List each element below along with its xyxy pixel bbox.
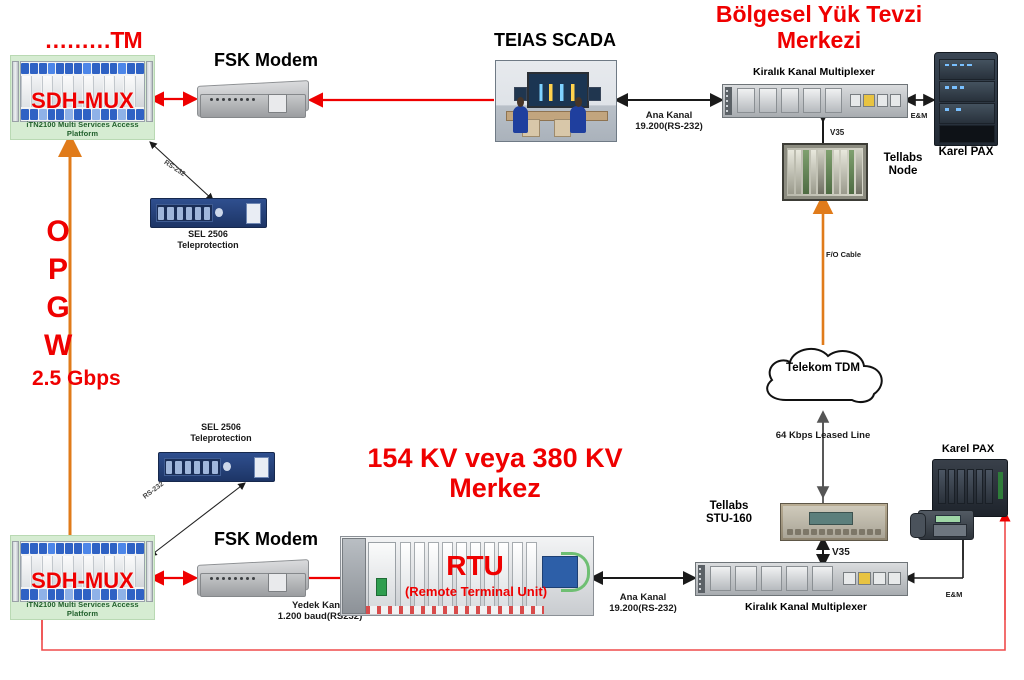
label-karel-pax-top: Karel PAX: [925, 146, 1007, 159]
label-opgw-w: W: [44, 329, 72, 363]
device-sel-2506-bottom[interactable]: [158, 452, 275, 482]
karel-shelf-1: [939, 59, 994, 80]
rtu-cpu-led: [376, 578, 387, 596]
device-teias-scada[interactable]: [495, 60, 617, 142]
label-rs232-top: RS-232: [152, 153, 197, 186]
rtu-terminal-strip: [366, 606, 544, 614]
title-substation: 154 KV veya 380 KV Merkez: [330, 443, 660, 503]
karel-bottom-slots: [937, 469, 993, 504]
sel-pushbutton-panel-bottom: [164, 458, 221, 476]
label-rs232-bottom: RS-232: [132, 473, 175, 509]
device-karel-pax-top[interactable]: [934, 52, 998, 146]
mux-tag-label: SDH-MUX: [11, 88, 154, 114]
label-tm: ………TM: [28, 28, 158, 54]
device-kiralik-kanal-multiplexer-bottom[interactable]: [695, 562, 908, 596]
kkm-rack-ears: [725, 87, 732, 115]
cloud-telekom-tdm[interactable]: [748, 340, 898, 416]
rtu-left-bracket: [342, 538, 366, 614]
label-sel-2506-bottom: SEL 2506 Teleprotection: [165, 422, 277, 444]
sel-knob: [215, 208, 223, 217]
stu-button-row: [787, 529, 880, 535]
network-diagram-canvas: Bölgesel Yük Tevzi Merkezi TEIAS SCADA 1…: [0, 0, 1024, 680]
label-opgw-p: P: [44, 253, 72, 287]
phone-handset: [910, 513, 926, 538]
scada-pedestal-right: [554, 119, 572, 137]
label-ana-kanal-top: Ana Kanal 19.200(RS-232): [614, 110, 724, 133]
mux-caption: iTN2100 Multi Services Access Platform: [11, 120, 154, 138]
karel-bottom-status-led: [998, 472, 1003, 499]
device-kiralik-kanal-multiplexer-top[interactable]: [722, 84, 908, 118]
device-fsk-modem-top[interactable]: [197, 75, 307, 123]
label-v35-bottom: V35: [832, 547, 866, 559]
sel-pushbutton-panel: [156, 204, 213, 222]
sel-right-panel-bottom: [254, 457, 270, 478]
scada-trend-graph: [535, 84, 581, 101]
device-tellabs-node[interactable]: [782, 143, 868, 201]
label-em-bottom: E&M: [938, 590, 970, 599]
kkm-module-row: [735, 88, 844, 113]
device-sel-2506-top[interactable]: [150, 198, 267, 228]
scada-monitor-right: [588, 87, 601, 101]
label-opgw-rate: 2.5 Gbps: [32, 367, 152, 391]
label-sel-2506-top: SEL 2506 Teleprotection: [152, 229, 264, 251]
fsk-led-row-bottom: [210, 577, 255, 580]
fsk-led-row: [210, 98, 255, 101]
label-rtu: RTU: [430, 550, 520, 581]
label-fsk-modem-top: FSK Modem: [186, 50, 346, 71]
label-em-top: E&M: [903, 111, 935, 120]
karel-shelf-2: [939, 81, 994, 102]
device-karel-phone[interactable]: [918, 510, 974, 540]
label-telekom-tdm: Telekom TDM: [760, 362, 886, 375]
label-tellabs-stu: Tellabs STU-160: [690, 500, 768, 526]
kkm-rack-ears-bottom: [698, 565, 705, 593]
fsk-rj45-port: [268, 94, 288, 112]
label-fo-cable: F/O Cable: [826, 250, 886, 259]
label-kkm-bottom: Kiralık Kanal Multiplexer: [706, 601, 906, 613]
karel-blank-panel: [939, 125, 994, 144]
label-ana-kanal-bottom: Ana Kanal 19.200(RS-232): [588, 592, 698, 615]
mux-caption-bottom: iTN2100 Multi Services Access Platform: [11, 600, 154, 618]
karel-shelf-3: [939, 103, 994, 124]
sel-knob-bottom: [223, 462, 231, 471]
scada-operator-right: [570, 106, 586, 133]
kkm-port-block: [850, 91, 902, 111]
device-karel-pax-bottom[interactable]: [932, 459, 1008, 517]
label-rtu-sublabel: (Remote Terminal Unit): [388, 585, 564, 600]
device-tellabs-stu-160[interactable]: [780, 503, 888, 541]
scada-operator-left: [513, 106, 529, 133]
label-opgw-o: O: [44, 215, 72, 249]
label-v35-top: V35: [830, 128, 860, 138]
label-karel-pax-bottom: Karel PAX: [927, 443, 1009, 456]
label-kkm-top: Kiralık Kanal Multiplexer: [714, 66, 914, 78]
stu-lcd-display: [809, 512, 853, 525]
device-sdh-mux-bottom[interactable]: SDH-MUX iTN2100 Multi Services Access Pl…: [10, 535, 155, 620]
kkm-port-block-bottom: [842, 569, 901, 589]
device-fsk-modem-bottom[interactable]: [197, 554, 307, 602]
mux-top-ports-bottom: [21, 542, 145, 555]
phone-display: [935, 515, 961, 523]
mux-top-ports: [21, 62, 145, 75]
tellabs-node-cards: [787, 148, 863, 196]
device-sdh-mux-top[interactable]: SDH-MUX iTN2100 Multi Services Access Pl…: [10, 55, 155, 140]
kkm-module-row-bottom: [708, 566, 835, 591]
sel-right-panel: [246, 203, 262, 224]
rtu-cpu-module: [368, 542, 396, 610]
label-leased-line: 64 Kbps Leased Line: [762, 430, 884, 441]
label-fsk-modem-bottom: FSK Modem: [186, 529, 346, 550]
title-regional-center: Bölgesel Yük Tevzi Merkezi: [684, 2, 954, 54]
fsk-rj45-port-bottom: [268, 573, 288, 591]
label-opgw-g: G: [44, 291, 72, 325]
mux-tag-label-bottom: SDH-MUX: [11, 568, 154, 594]
title-teias-scada: TEIAS SCADA: [420, 30, 690, 51]
phone-keypad: [933, 524, 967, 537]
